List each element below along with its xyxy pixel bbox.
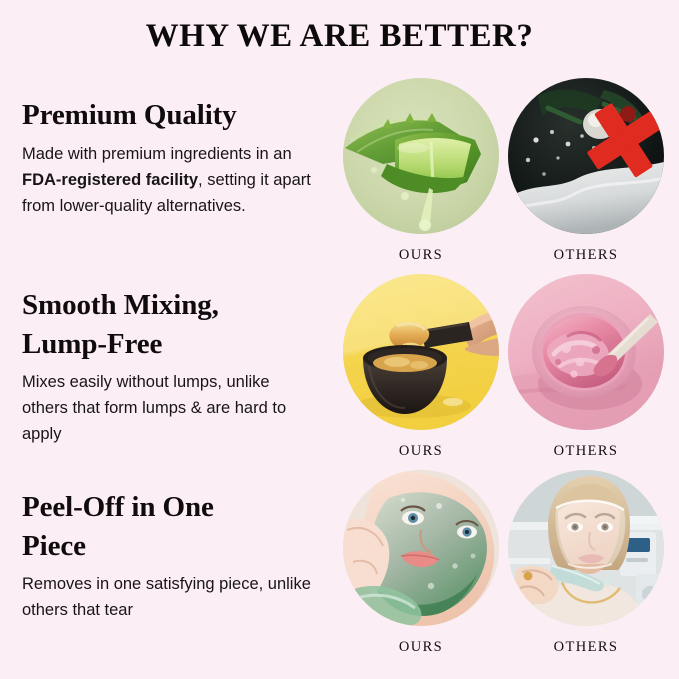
comparison-cell-ours: OURS	[343, 274, 499, 460]
caption-ours: OURS	[343, 443, 499, 460]
feature-heading: Premium Quality	[22, 96, 314, 135]
caption-ours: OURS	[343, 639, 499, 656]
aloe-vera-leaf-on-green-background-image	[343, 78, 499, 234]
feature-block-peel-off: Peel-Off in OnePiece Removes in one sati…	[22, 488, 314, 623]
woman-peeling-green-gel-mask-in-one-piece-image	[343, 470, 499, 626]
feature-body-bold: FDA-registered facility	[22, 171, 198, 189]
comparison-row-smooth-mixing: OURS	[336, 274, 672, 470]
smooth-golden-mask-in-black-bowl-yellow-background-image	[343, 274, 499, 430]
caption-others: OTHERS	[508, 247, 664, 264]
lumpy-pink-mask-in-pink-bowl-with-brush-image	[508, 274, 664, 430]
comparison-row-peel-off: OURS	[336, 470, 672, 666]
feature-body-part-1: Made with premium ingredients in an	[22, 145, 292, 163]
feature-heading: Smooth Mixing,Lump-Free	[22, 286, 314, 363]
infographic-page: WHY WE ARE BETTER? Premium Quality Made …	[0, 0, 679, 679]
comparison-row-premium-quality: OURS	[336, 78, 672, 274]
comparison-cell-others: OTHERS	[508, 78, 664, 264]
comparison-image-column: OURS	[336, 78, 672, 666]
woman-removing-torn-transparent-mask-in-clinic-image	[508, 470, 664, 626]
feature-body: Mixes easily without lumps, unlike other…	[22, 369, 314, 447]
comparison-cell-others: OTHERS	[508, 274, 664, 460]
comparison-cell-ours: OURS	[343, 470, 499, 656]
feature-heading-line-1: Peel-Off in One	[22, 491, 214, 523]
feature-heading: Peel-Off in OnePiece	[22, 488, 314, 565]
feature-block-premium-quality: Premium Quality Made with premium ingred…	[22, 96, 314, 219]
caption-others: OTHERS	[508, 639, 664, 656]
page-title: WHY WE ARE BETTER?	[0, 20, 679, 53]
feature-heading-line-2: Lump-Free	[22, 328, 162, 360]
feature-body: Removes in one satisfying piece, unlike …	[22, 571, 314, 623]
feature-body: Made with premium ingredients in an FDA-…	[22, 141, 314, 219]
feature-heading-line-1: Smooth Mixing,	[22, 289, 219, 321]
white-powder-dark-background-with-red-x-image	[508, 78, 664, 234]
comparison-cell-ours: OURS	[343, 78, 499, 264]
feature-block-smooth-mixing: Smooth Mixing,Lump-Free Mixes easily wit…	[22, 286, 314, 447]
caption-ours: OURS	[343, 247, 499, 264]
feature-heading-line-2: Piece	[22, 530, 86, 562]
comparison-cell-others: OTHERS	[508, 470, 664, 656]
caption-others: OTHERS	[508, 443, 664, 460]
